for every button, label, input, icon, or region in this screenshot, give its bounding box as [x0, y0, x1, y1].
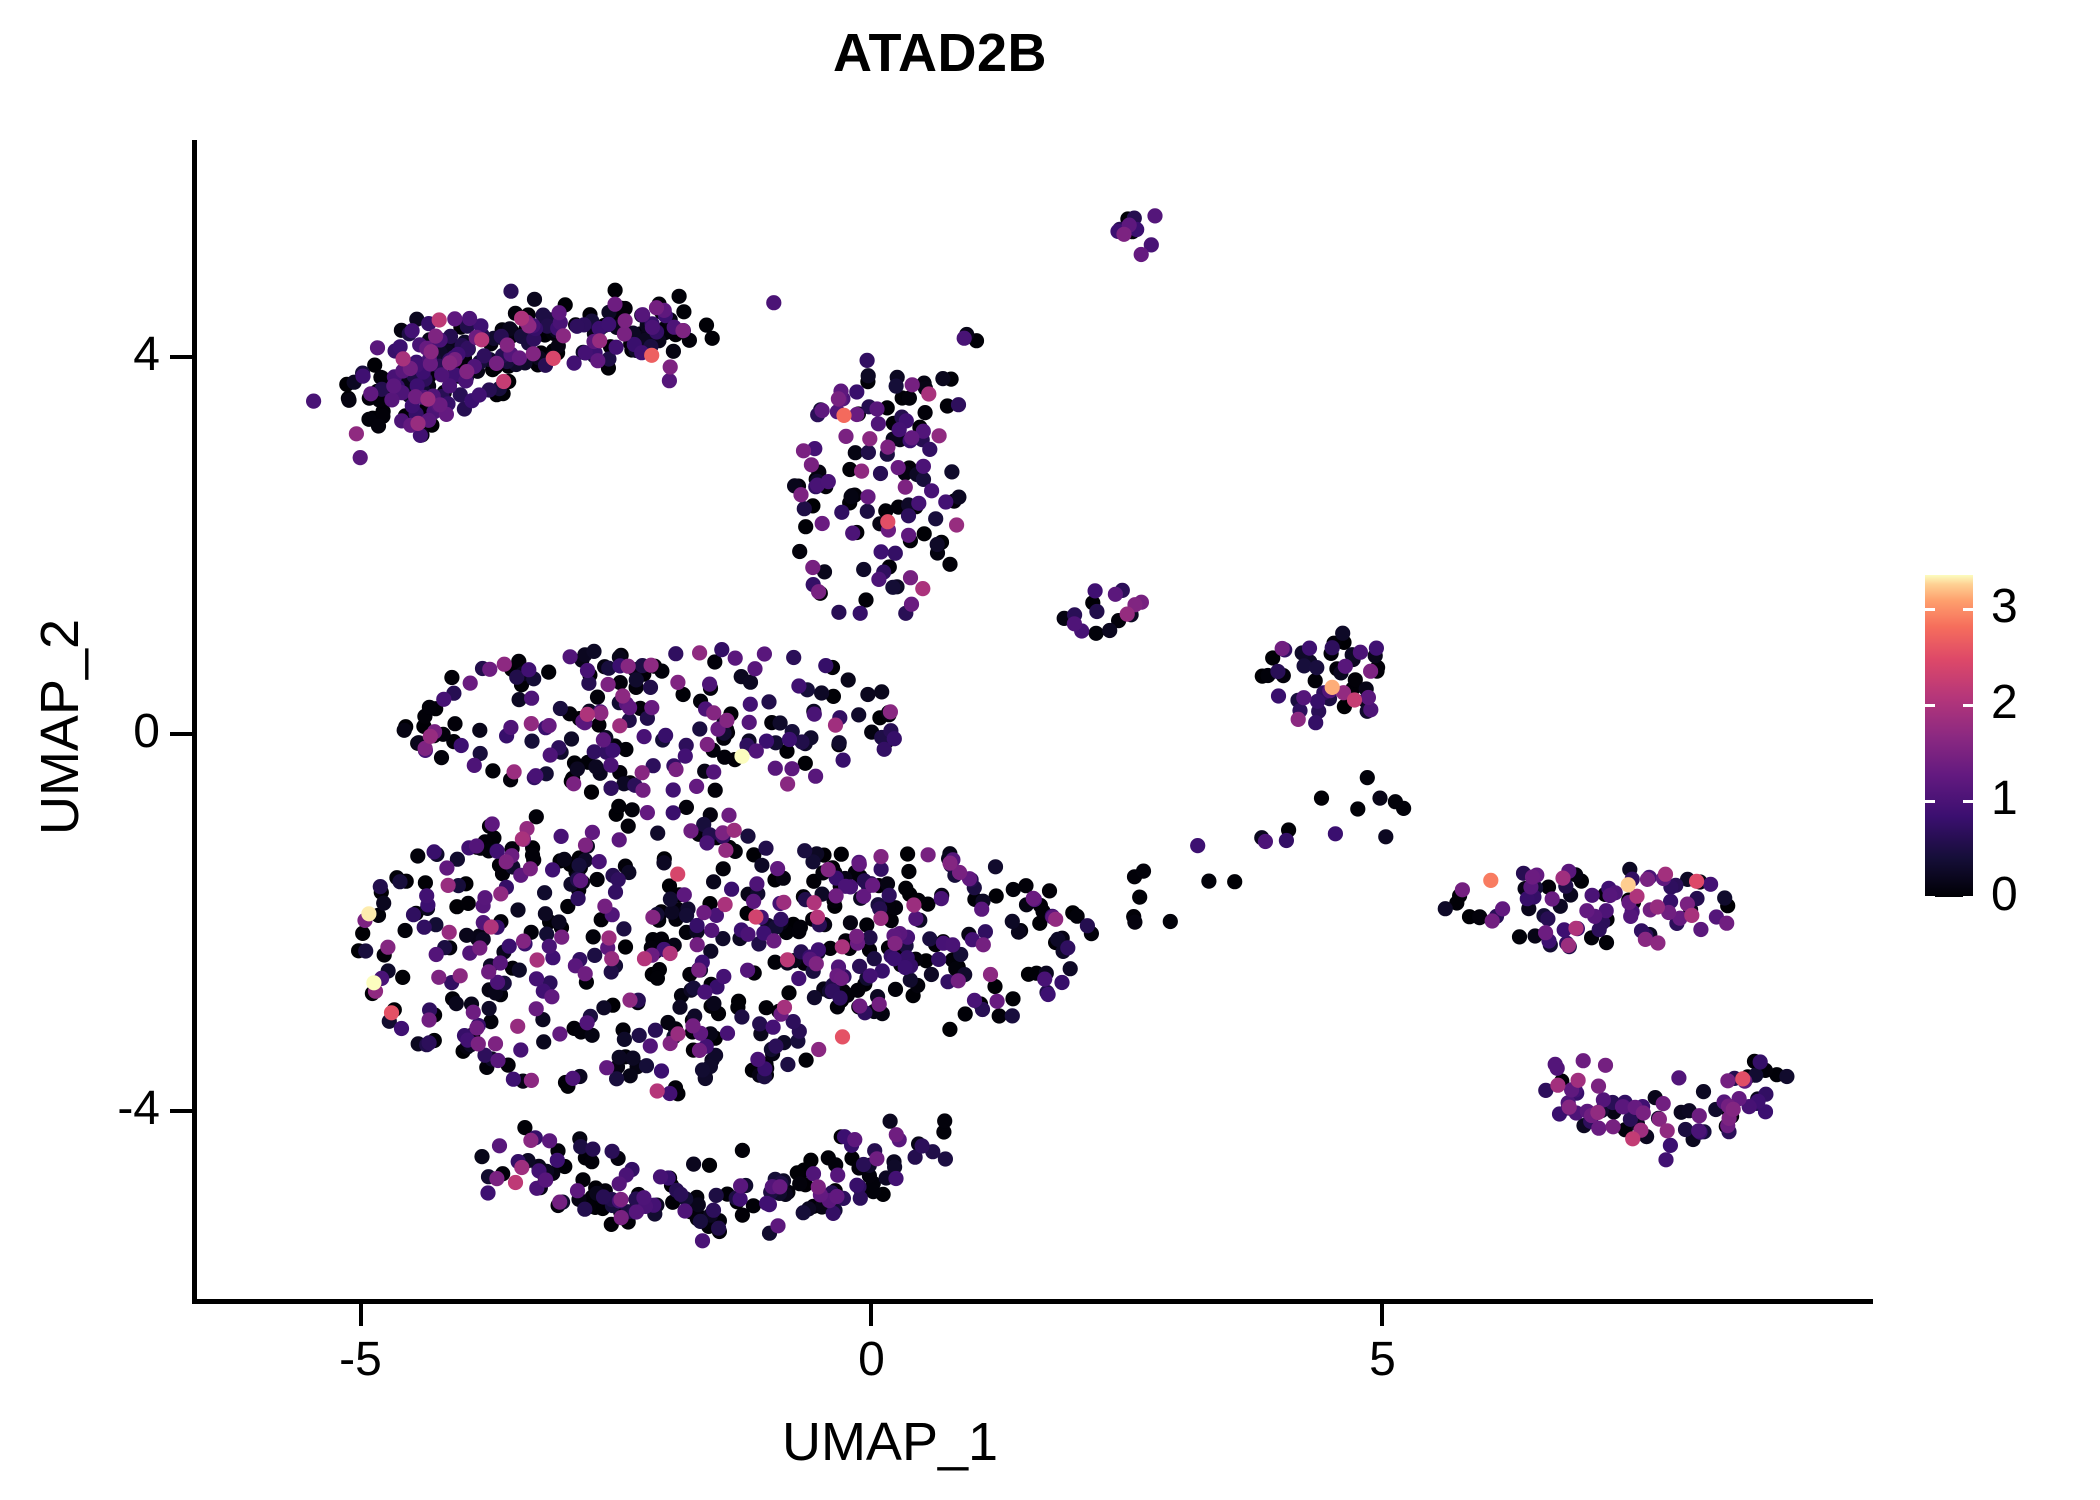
scatter-point	[951, 397, 966, 412]
scatter-point	[1663, 1138, 1678, 1153]
scatter-point	[678, 749, 693, 764]
scatter-point	[601, 677, 616, 692]
scatter-point	[1598, 1058, 1613, 1073]
scatter-point	[887, 731, 902, 746]
scatter-point	[1696, 1084, 1711, 1099]
scatter-point	[808, 769, 823, 784]
colorbar-tick-label: 0	[1991, 871, 2018, 919]
scatter-point	[417, 920, 432, 935]
scatter-point	[1291, 712, 1306, 727]
colorbar-tick-label: 1	[1991, 775, 2018, 823]
scatter-point	[482, 1001, 497, 1016]
scatter-point	[804, 457, 819, 472]
scatter-point	[883, 704, 898, 719]
scatter-point	[724, 882, 739, 897]
scatter-point	[1132, 890, 1147, 905]
scatter-point	[773, 912, 788, 927]
scatter-point	[554, 829, 569, 844]
scatter-point	[1585, 888, 1600, 903]
scatter-point	[829, 1189, 844, 1204]
scatter-point	[524, 734, 539, 749]
scatter-point	[1310, 694, 1325, 709]
scatter-point	[503, 720, 518, 735]
scatter-point	[1060, 940, 1075, 955]
y-tick-mark	[170, 355, 192, 359]
scatter-point	[704, 923, 719, 938]
scatter-point	[586, 929, 601, 944]
scatter-point	[734, 1009, 749, 1024]
scatter-point	[829, 888, 844, 903]
scatter-point	[871, 416, 886, 431]
scatter-point	[424, 344, 439, 359]
scatter-point	[850, 983, 865, 998]
scatter-point	[1042, 883, 1057, 898]
scatter-point	[844, 489, 859, 504]
x-axis-line	[192, 1299, 1873, 1304]
scatter-point	[702, 677, 717, 692]
scatter-point	[461, 896, 476, 911]
scatter-point	[529, 809, 544, 824]
scatter-point	[444, 670, 459, 685]
scatter-point	[656, 855, 671, 870]
scatter-point	[706, 1203, 721, 1218]
scatter-point	[592, 333, 607, 348]
scatter-point	[571, 891, 586, 906]
scatter-point	[358, 943, 373, 958]
scatter-point	[734, 749, 749, 764]
scatter-point	[463, 676, 478, 691]
scatter-point	[1602, 888, 1617, 903]
scatter-point	[516, 934, 531, 949]
scatter-point	[706, 764, 721, 779]
scatter-point	[662, 373, 677, 388]
scatter-point	[695, 1062, 710, 1077]
scatter-point	[648, 1023, 663, 1038]
scatter-point	[766, 295, 781, 310]
scatter-point	[784, 761, 799, 776]
scatter-point	[856, 562, 871, 577]
scatter-point	[892, 422, 907, 437]
scatter-point	[649, 300, 664, 315]
scatter-point	[650, 1083, 665, 1098]
scatter-point	[436, 692, 451, 707]
scatter-point	[885, 580, 900, 595]
scatter-point	[1438, 901, 1453, 916]
scatter-point	[629, 1204, 644, 1219]
scatter-point	[797, 843, 812, 858]
scatter-point	[780, 952, 795, 967]
scatter-point	[447, 716, 462, 731]
scatter-point	[882, 888, 897, 903]
scatter-point	[807, 707, 822, 722]
scatter-point	[666, 782, 681, 797]
scatter-point	[513, 1042, 528, 1057]
scatter-point	[709, 1188, 724, 1203]
scatter-point	[902, 391, 917, 406]
scatter-point	[887, 951, 902, 966]
scatter-point	[758, 841, 773, 856]
scatter-point	[1591, 1079, 1606, 1094]
scatter-point	[811, 1179, 826, 1194]
scatter-point	[1540, 911, 1555, 926]
scatter-point	[489, 1171, 504, 1186]
scatter-point	[679, 800, 694, 815]
scatter-point	[692, 1043, 707, 1058]
scatter-point	[1227, 874, 1242, 889]
scatter-point	[766, 933, 781, 948]
scatter-point	[541, 665, 556, 680]
scatter-point	[502, 939, 517, 954]
scatter-point	[564, 731, 579, 746]
scatter-point	[490, 1053, 505, 1068]
scatter-point	[1650, 899, 1665, 914]
scatter-point	[1347, 692, 1362, 707]
scatter-point	[396, 351, 411, 366]
scatter-point	[1691, 1123, 1706, 1138]
scatter-point	[510, 902, 525, 917]
scatter-point	[427, 844, 442, 859]
scatter-point	[442, 355, 457, 370]
scatter-point	[510, 1019, 525, 1034]
scatter-point	[856, 1157, 871, 1172]
scatter-point	[1067, 616, 1082, 631]
scatter-point	[1483, 873, 1498, 888]
scatter-point	[901, 508, 916, 523]
scatter-point	[666, 805, 681, 820]
scatter-point	[740, 927, 755, 942]
scatter-point	[605, 1144, 620, 1159]
scatter-point	[974, 902, 989, 917]
scatter-point	[916, 459, 931, 474]
scatter-point	[431, 970, 446, 985]
scatter-point	[922, 442, 937, 457]
scatter-point	[439, 860, 454, 875]
scatter-point	[810, 910, 825, 925]
scatter-point	[453, 968, 468, 983]
scatter-point	[1102, 623, 1117, 638]
scatter-point	[623, 1068, 638, 1083]
scatter-point	[832, 735, 847, 750]
scatter-point	[697, 984, 712, 999]
scatter-point	[807, 895, 822, 910]
scatter-point	[514, 311, 529, 326]
scatter-point	[809, 956, 824, 971]
scatter-point	[1127, 915, 1142, 930]
scatter-point	[848, 445, 863, 460]
scatter-point	[398, 923, 413, 938]
scatter-point	[746, 894, 761, 909]
scatter-point	[889, 1127, 904, 1142]
scatter-point	[515, 831, 530, 846]
scatter-point	[615, 688, 630, 703]
scatter-point	[1658, 867, 1673, 882]
scatter-point	[485, 816, 500, 831]
scatter-point	[429, 947, 444, 962]
scatter-point	[673, 1187, 688, 1202]
scatter-point	[690, 918, 705, 933]
scatter-point	[781, 985, 796, 1000]
x-tick-mark	[359, 1304, 363, 1326]
scatter-point	[689, 779, 704, 794]
colorbar-tick-mark	[1925, 608, 1935, 611]
scatter-point	[341, 393, 356, 408]
scatter-point	[748, 909, 763, 924]
colorbar-tick-label: 3	[1991, 583, 2018, 631]
scatter-point	[597, 899, 612, 914]
scatter-point	[428, 329, 443, 344]
scatter-point	[1717, 890, 1732, 905]
scatter-point	[1561, 938, 1576, 953]
scatter-point	[793, 920, 808, 935]
scatter-point	[493, 886, 508, 901]
scatter-point	[1361, 690, 1376, 705]
scatter-point	[1325, 640, 1340, 655]
scatter-point	[951, 490, 966, 505]
scatter-point	[542, 718, 557, 733]
scatter-point	[770, 861, 785, 876]
scatter-point	[874, 544, 889, 559]
scatter-plot-area	[197, 140, 1873, 1299]
scatter-point	[863, 968, 878, 983]
scatter-point	[422, 1035, 437, 1050]
scatter-point	[749, 876, 764, 891]
scatter-point	[849, 1178, 864, 1193]
scatter-point	[747, 661, 762, 676]
scatter-point	[720, 1026, 735, 1041]
scatter-point	[845, 526, 860, 541]
scatter-point	[1372, 791, 1387, 806]
colorbar-tick-mark	[1963, 704, 1973, 707]
scatter-point	[585, 1142, 600, 1157]
scatter-point	[663, 892, 678, 907]
scatter-point	[632, 1028, 647, 1043]
scatter-point	[692, 721, 707, 736]
scatter-point	[526, 346, 541, 361]
scatter-point	[523, 861, 538, 876]
scatter-point	[612, 832, 627, 847]
scatter-point	[683, 823, 698, 838]
scatter-point	[542, 1133, 557, 1148]
scatter-point	[900, 846, 915, 861]
scatter-point	[716, 969, 731, 984]
scatter-point	[670, 1026, 685, 1041]
scatter-point	[395, 970, 410, 985]
scatter-point	[693, 1214, 708, 1229]
scatter-point	[811, 1042, 826, 1057]
scatter-point	[792, 544, 807, 559]
scatter-point	[1485, 913, 1500, 928]
scatter-point	[834, 971, 849, 986]
scatter-point	[872, 997, 887, 1012]
scatter-point	[1279, 833, 1294, 848]
scatter-point	[1063, 961, 1078, 976]
scatter-point	[699, 835, 714, 850]
scatter-point	[477, 890, 492, 905]
scatter-point	[637, 729, 652, 744]
scatter-point	[1163, 914, 1178, 929]
scatter-point	[578, 966, 593, 981]
scatter-point	[768, 761, 783, 776]
scatter-point	[718, 897, 733, 912]
scatter-point	[650, 826, 665, 841]
scatter-point	[935, 371, 950, 386]
scatter-point	[621, 659, 636, 674]
scatter-point	[851, 707, 866, 722]
scatter-point	[507, 764, 522, 779]
scatter-point	[640, 805, 655, 820]
scatter-point	[485, 763, 500, 778]
scatter-point	[983, 967, 998, 982]
scatter-point	[860, 353, 875, 368]
scatter-point	[514, 1160, 529, 1175]
scatter-point	[1396, 801, 1411, 816]
scatter-point	[743, 675, 758, 690]
scatter-point	[672, 1000, 687, 1015]
scatter-point	[1548, 1057, 1563, 1072]
scatter-point	[459, 364, 474, 379]
scatter-point	[1108, 587, 1123, 602]
scatter-point	[677, 1203, 692, 1218]
scatter-point	[1363, 664, 1378, 679]
scatter-point	[733, 1192, 748, 1207]
scatter-point	[852, 857, 867, 872]
scatter-point	[611, 799, 626, 814]
scatter-point	[454, 738, 469, 753]
scatter-point	[860, 504, 875, 519]
scatter-point	[862, 431, 877, 446]
scatter-point	[370, 340, 385, 355]
scatter-point	[988, 859, 1003, 874]
scatter-point	[500, 337, 515, 352]
scatter-point	[538, 906, 553, 921]
scatter-point	[1625, 1131, 1640, 1146]
scatter-point	[1689, 874, 1704, 889]
scatter-point	[1568, 921, 1583, 936]
colorbar-tick-label: 2	[1991, 679, 2018, 727]
scatter-point	[420, 392, 435, 407]
scatter-point	[467, 758, 482, 773]
scatter-point	[898, 881, 913, 896]
scatter-point	[958, 1006, 973, 1021]
scatter-point	[512, 350, 527, 365]
scatter-point	[727, 823, 742, 838]
scatter-point	[921, 386, 936, 401]
x-tick-label: 0	[811, 1336, 931, 1384]
scatter-point	[617, 1032, 632, 1047]
scatter-point	[577, 1202, 592, 1217]
scatter-point	[750, 1052, 765, 1067]
scatter-point	[625, 802, 640, 817]
scatter-point	[653, 1169, 668, 1184]
scatter-point	[570, 1183, 585, 1198]
scatter-point	[612, 1050, 627, 1065]
scatter-point	[826, 1206, 841, 1221]
scatter-point	[719, 713, 734, 728]
scatter-point	[496, 374, 511, 389]
scatter-point	[635, 765, 650, 780]
scatter-point	[1089, 626, 1104, 641]
scatter-point	[1455, 882, 1470, 897]
scatter-point	[949, 517, 964, 532]
scatter-point	[384, 392, 399, 407]
y-tick-mark	[170, 1109, 192, 1113]
scatter-point	[617, 326, 632, 341]
scatter-point	[780, 1057, 795, 1072]
x-tick-mark	[869, 1304, 873, 1326]
scatter-point	[1041, 987, 1056, 1002]
scatter-point	[1350, 801, 1365, 816]
scatter-point	[834, 847, 849, 862]
scatter-point	[644, 348, 659, 363]
scatter-point	[512, 963, 527, 978]
scatter-point	[942, 557, 957, 572]
scatter-point	[1136, 864, 1151, 879]
scatter-point	[672, 289, 687, 304]
scatter-point	[614, 1210, 629, 1225]
scatter-point	[1495, 901, 1510, 916]
scatter-point	[525, 848, 540, 863]
scatter-point	[537, 885, 552, 900]
scatter-point	[663, 359, 678, 374]
scatter-point	[480, 1185, 495, 1200]
scatter-point	[474, 1149, 489, 1164]
scatter-point	[645, 910, 660, 925]
scatter-point	[472, 940, 487, 955]
feature-plot-figure: ATAD2B -50540-4 UMAP_1 UMAP_2 0123	[0, 0, 2100, 1500]
scatter-point	[621, 819, 636, 834]
scatter-point	[422, 700, 437, 715]
scatter-point	[536, 1034, 551, 1049]
scatter-point	[1555, 871, 1570, 886]
scatter-point	[690, 937, 705, 952]
scatter-point	[873, 466, 888, 481]
scatter-point	[670, 675, 685, 690]
scatter-point	[874, 684, 889, 699]
scatter-point	[889, 379, 904, 394]
scatter-point	[1692, 1108, 1707, 1123]
scatter-point	[1309, 660, 1324, 675]
scatter-point	[410, 416, 425, 431]
scatter-point	[530, 952, 545, 967]
scatter-point	[482, 662, 497, 677]
scatter-point	[1048, 912, 1063, 927]
scatter-point	[752, 1016, 767, 1031]
scatter-point	[613, 1192, 628, 1207]
colorbar-tick-mark	[1963, 608, 1973, 611]
scatter-point	[1606, 1119, 1621, 1134]
scatter-point	[691, 963, 706, 978]
scatter-point	[418, 875, 433, 890]
scatter-point	[908, 911, 923, 926]
scatter-point	[880, 514, 895, 529]
scatter-point	[1591, 1121, 1606, 1136]
scatter-point	[584, 785, 599, 800]
scatter-point	[469, 838, 484, 853]
scatter-point	[422, 1012, 437, 1027]
scatter-point	[905, 377, 920, 392]
scatter-point	[852, 998, 867, 1013]
scatter-point	[472, 387, 487, 402]
scatter-point	[743, 697, 758, 712]
scatter-point	[552, 1195, 567, 1210]
scatter-point	[499, 854, 514, 869]
scatter-point	[472, 723, 487, 738]
scatter-point	[406, 907, 421, 922]
scatter-point	[716, 861, 731, 876]
scatter-point	[1538, 925, 1553, 940]
x-tick-label: 5	[1322, 1336, 1442, 1384]
scatter-point	[951, 973, 966, 988]
